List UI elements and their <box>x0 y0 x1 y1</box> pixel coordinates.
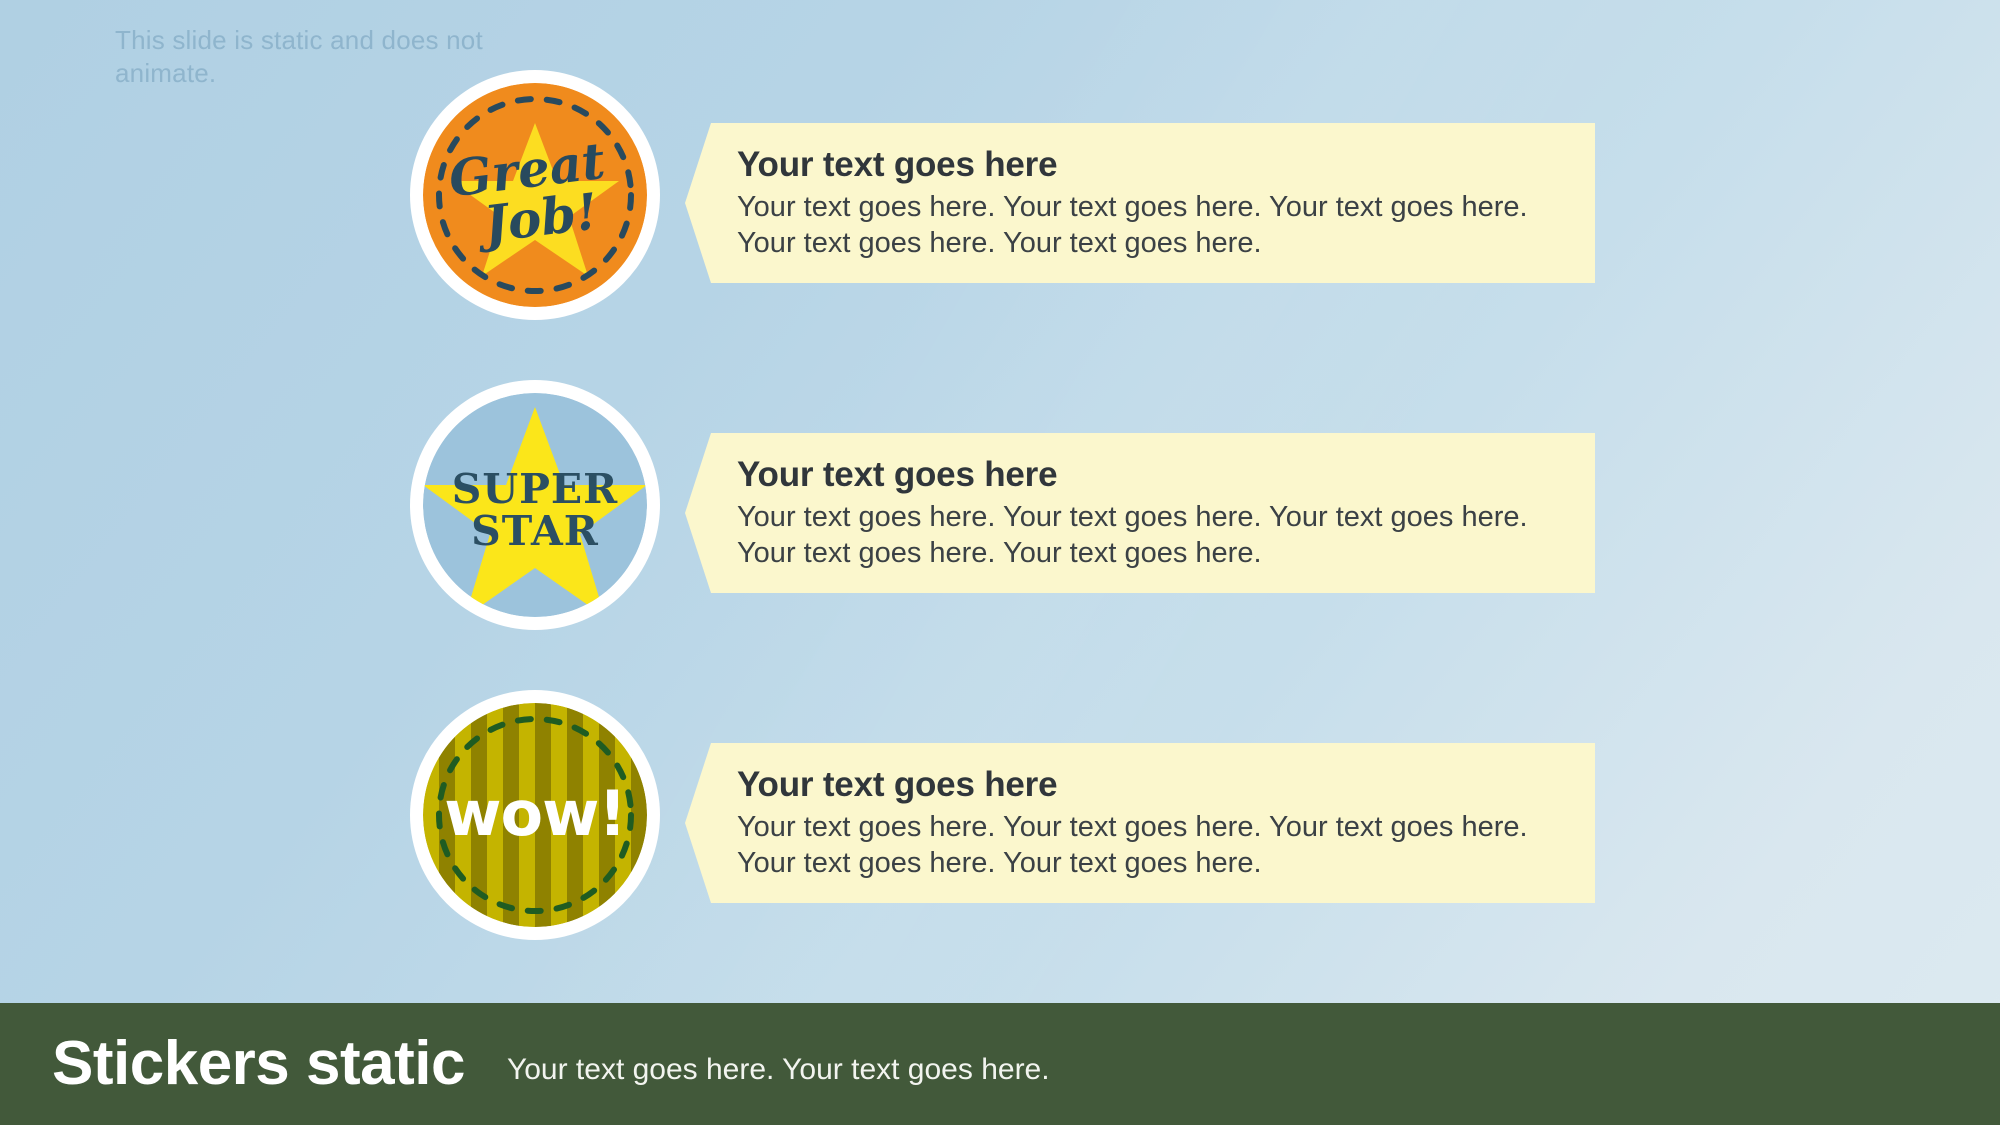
callout-title: Your text goes here <box>737 765 1555 806</box>
callout-title: Your text goes here <box>737 145 1555 186</box>
svg-text:STAR: STAR <box>471 507 599 555</box>
callout-box[interactable]: Your text goes here Your text goes here.… <box>685 433 1595 593</box>
callout-body: Your text goes here. Your text goes here… <box>737 500 1555 572</box>
callout-body: Your text goes here. Your text goes here… <box>737 810 1555 882</box>
sticker-super-star[interactable]: SUPER STAR <box>410 380 660 630</box>
callout-box[interactable]: Your text goes here Your text goes here.… <box>685 743 1595 903</box>
sticker-wow[interactable]: wow! <box>410 690 660 940</box>
super-star-artwork: SUPER STAR <box>423 393 647 617</box>
footer-bar: Stickers static Your text goes here. You… <box>0 1003 2000 1125</box>
sticker-great-job[interactable]: Great Job! <box>410 70 660 320</box>
sticker-row: wow! Your text goes here Your text goes … <box>0 680 2000 940</box>
sticker-great-job-face: Great Job! <box>423 83 647 307</box>
sticker-wow-face: wow! <box>423 703 647 927</box>
sticker-row: SUPER STAR Your text goes here Your text… <box>0 370 2000 630</box>
great-job-artwork: Great Job! <box>423 83 647 307</box>
footer-title: Stickers static <box>52 1033 465 1095</box>
sticker-row: Great Job! Your text goes here Your text… <box>0 60 2000 320</box>
sticker-super-star-face: SUPER STAR <box>423 393 647 617</box>
slide-canvas: This slide is static and does not animat… <box>0 0 2000 1125</box>
svg-text:wow!: wow! <box>444 777 625 850</box>
callout-box[interactable]: Your text goes here Your text goes here.… <box>685 123 1595 283</box>
callout-title: Your text goes here <box>737 455 1555 496</box>
svg-text:SUPER: SUPER <box>452 465 619 513</box>
callout-body: Your text goes here. Your text goes here… <box>737 190 1555 262</box>
wow-artwork: wow! <box>423 703 647 927</box>
footer-subtitle: Your text goes here. Your text goes here… <box>507 1043 1050 1085</box>
